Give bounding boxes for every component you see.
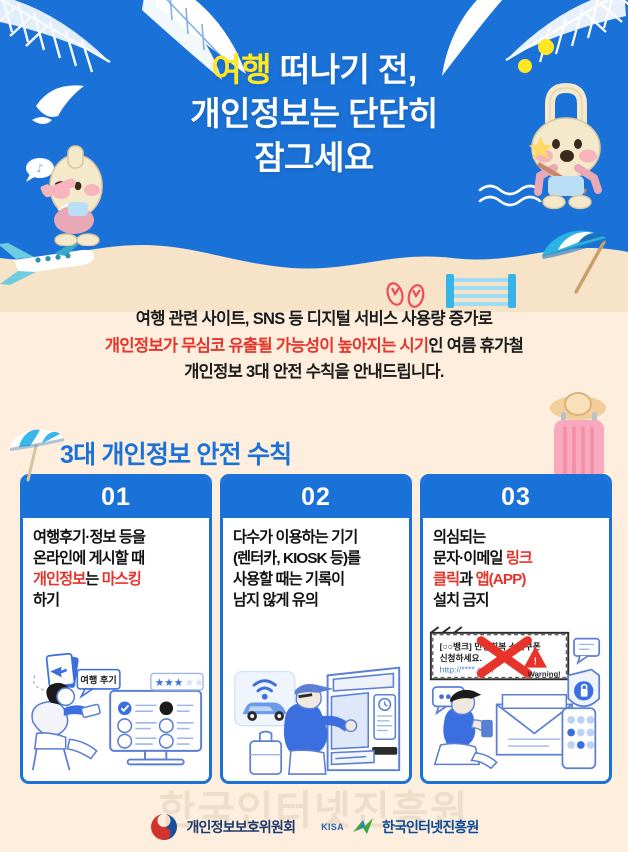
kisa-label: 한국인터넷진흥원 [382, 817, 479, 837]
card01-seg2: 온라인에 게시할 때 [33, 550, 144, 567]
svg-text:!: ! [534, 657, 537, 668]
card-number-01: 01 [101, 483, 131, 512]
card-number-03: 03 [501, 483, 531, 512]
card03-seg4: 클릭 [433, 571, 459, 588]
tip-card-03[interactable]: 03 의심되는 문자·이메일 링크 클릭과 앱(APP) 설치 금지 [420, 474, 612, 784]
card02-seg2: (렌터카, KIOSK 등)를 [233, 550, 360, 567]
card02-seg4: 남지 않게 유의 [233, 592, 318, 609]
card01-seg3: 개인정보 [33, 571, 85, 588]
intro-line-1: 여행 관련 사이트, SNS 등 디지털 서비스 사용량 증가로 [0, 306, 628, 333]
card-text-03: 의심되는 문자·이메일 링크 클릭과 앱(APP) 설치 금지 [433, 528, 600, 612]
card01-seg1: 여행후기·정보 등을 [33, 529, 145, 546]
sms-body: 신청하세요. [440, 652, 482, 663]
tip-card-01[interactable]: 01 여행후기·정보 등을 온라인에 게시할 때 개인정보는 마스킹 하기 [20, 474, 212, 784]
flip-flops-icon [384, 278, 432, 308]
intro-paragraph: 여행 관련 사이트, SNS 등 디지털 서비스 사용량 증가로 개인정보가 무… [0, 306, 628, 386]
card-body-01: 여행후기·정보 등을 온라인에 게시할 때 개인정보는 마스킹 하기 [23, 518, 209, 626]
svg-text:♪: ♪ [36, 162, 43, 175]
airplane-icon [0, 240, 99, 288]
logo-pipc: 개인정보보호위원회 [149, 812, 295, 842]
hero-title-rest-1: 떠나기 전, [271, 51, 416, 88]
card-number-02: 02 [301, 483, 331, 512]
section-title: 3대 개인정보 안전 수칙 [60, 435, 291, 471]
card-text-01: 여행후기·정보 등을 온라인에 게시할 때 개인정보는 마스킹 하기 [33, 528, 200, 612]
intro-line-2: 개인정보가 무심코 유출될 가능성이 높아지는 시기인 여름 휴가철 [0, 333, 628, 360]
hero-title-highlight: 여행 [211, 51, 271, 88]
logo-kisa: KISA 한국인터넷진흥원 [321, 816, 478, 838]
card03-seg6: 앱(APP) [476, 571, 526, 588]
kisa-swoosh-icon [351, 816, 375, 838]
card01-seg6: 하기 [33, 592, 59, 609]
card01-seg4: 는 [85, 571, 101, 588]
card-text-02: 다수가 이용하는 기기 (렌터카, KIOSK 등)를 사용할 때는 기록이 남… [233, 528, 400, 612]
card02-seg3: 사용할 때는 기록이 [233, 571, 344, 588]
card03-seg2: 문자·이메일 [433, 550, 506, 567]
card03-seg3: 링크 [506, 550, 532, 567]
card-body-02: 다수가 이용하는 기기 (렌터카, KIOSK 등)를 사용할 때는 기록이 남… [223, 518, 409, 626]
card03-seg1: 의심되는 [433, 529, 485, 546]
key-mascot-guitar: ♪ [16, 140, 116, 246]
footer-logos: 개인정보보호위원회 KISA 한국인터넷진흥원 [0, 812, 628, 842]
card-header-03: 03 [423, 477, 609, 518]
card03-seg5: 과 [459, 571, 475, 588]
review-bubble-label: 여행 후기 [80, 674, 116, 685]
intro-line-3: 개인정보 3대 안전 수칙을 안내드립니다. [0, 359, 628, 386]
intro-highlight-red: 개인정보가 무심코 유출될 가능성이 높아지는 시기 [105, 337, 429, 355]
kisa-mark: KISA [321, 822, 344, 832]
card-illustration-02 [227, 626, 405, 776]
pipc-label: 개인정보보호위원회 [186, 817, 295, 837]
card03-seg7: 설치 금지 [433, 592, 489, 609]
card01-seg5: 마스킹 [102, 571, 141, 588]
tip-card-02[interactable]: 02 다수가 이용하는 기기 (렌터카, KIOSK 등)를 사용할 때는 기록… [220, 474, 412, 784]
intro-line-2-rest: 인 여름 휴가철 [428, 337, 523, 355]
lock-mascot-bear [514, 76, 618, 212]
pipc-emblem-icon [149, 812, 179, 842]
beach-umbrella-icon [520, 226, 620, 300]
beach-umbrella-icon [6, 426, 68, 484]
warning-label: Warning! [528, 669, 561, 678]
card-illustration-01: ★★★ ★★ 여행 후기 [27, 626, 205, 776]
tips-card-list: 01 여행후기·정보 등을 온라인에 게시할 때 개인정보는 마스킹 하기 [20, 474, 612, 784]
svg-text:★★★: ★★★ [155, 676, 184, 689]
card-header-02: 02 [223, 477, 409, 518]
card-body-03: 의심되는 문자·이메일 링크 클릭과 앱(APP) 설치 금지 [423, 518, 609, 626]
poster-root: 여행 떠나기 전, 개인정보는 단단히 잠그세요 [0, 0, 628, 852]
svg-text:★★: ★★ [185, 676, 204, 689]
card-illustration-03: [○○뱅크] 민생회복 소비쿠폰 신청하세요. http://****.com … [427, 626, 605, 776]
card02-seg1: 다수가 이용하는 기기 [233, 529, 357, 546]
